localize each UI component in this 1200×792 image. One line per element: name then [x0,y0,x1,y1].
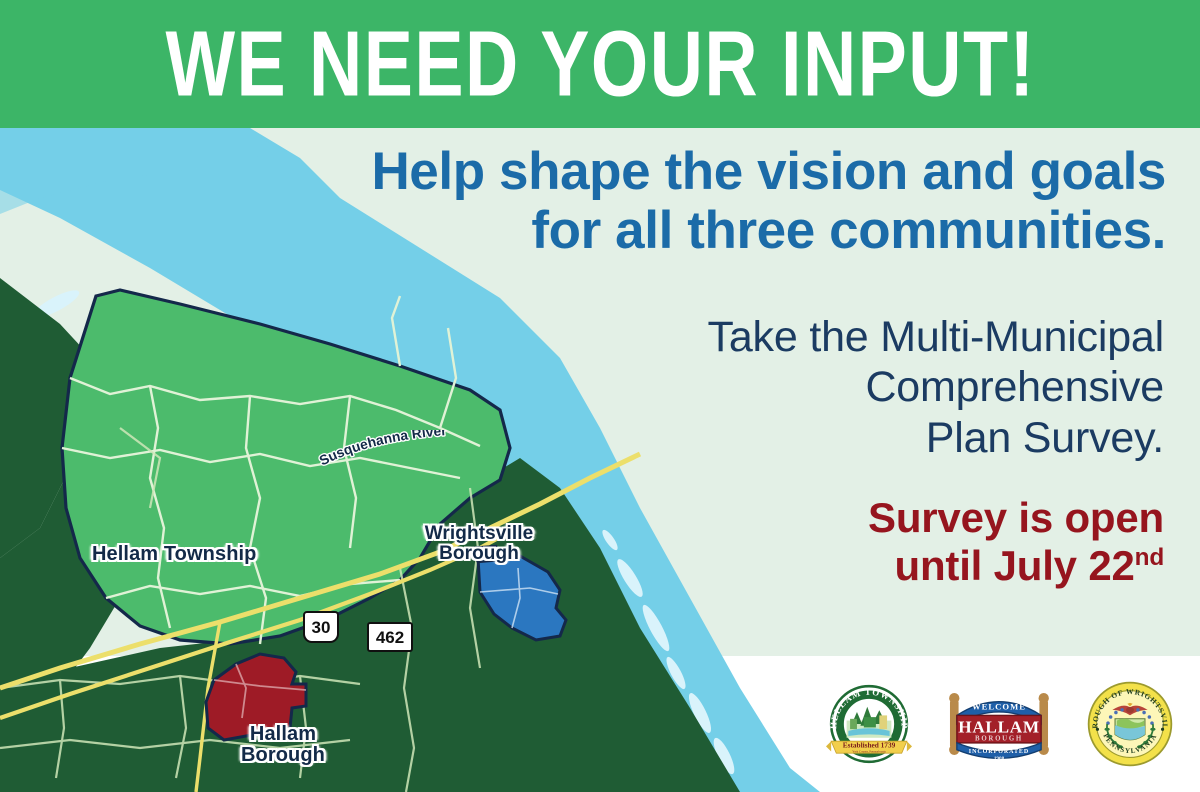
subheadline: Help shape the vision and goals for all … [166,142,1166,261]
cta-line-1: Take the Multi-Municipal [544,312,1164,362]
hallam-incorporated-text: INCORPORATED [969,749,1029,755]
deadline-ordinal-suffix: nd [1135,544,1164,571]
hellam-seal-banner-text: Established 1739 [842,741,895,750]
subheadline-line-1: Help shape the vision and goals [166,142,1166,201]
deadline-date: until July 22 [895,542,1135,589]
deadline-notice: Survey is open until July 22nd [544,494,1164,590]
hallam-incorporated-year: 1908 [994,756,1005,762]
deadline-line-2: until July 22nd [544,542,1164,590]
poster-canvas: Susquehanna River 30 462 Hellam Township… [0,0,1200,792]
municipal-logos: HELLAM TOWNSHIP Established 1739 York Co… [810,668,1190,780]
cta-line-2: Comprehensive [544,362,1164,412]
call-to-action: Take the Multi-Municipal Comprehensive P… [544,312,1164,463]
header-banner: WE NEED YOUR INPUT! [0,0,1200,128]
cta-line-3: Plan Survey. [544,413,1164,463]
hallam-borough-logo: WELCOME HALLAM BOROUGH INCORPORATED 1908 [943,681,1055,767]
hallam-welcome-text: WELCOME [972,701,1026,711]
hallam-sub-text: BOROUGH [975,735,1023,742]
pa-462-shield: 462 [367,622,413,652]
hellam-township-seal: HELLAM TOWNSHIP Established 1739 York Co… [826,681,912,767]
hallam-main-text: HALLAM [958,718,1039,737]
wrightsville-borough-seal: BOROUGH OF WRIGHTSVILLE PENNSYLVANIA [1086,680,1174,768]
us-30-shield: 30 [303,611,339,643]
deadline-line-1: Survey is open [544,494,1164,542]
page-title: WE NEED YOUR INPUT! [165,11,1035,117]
subheadline-line-2: for all three communities. [166,201,1166,260]
